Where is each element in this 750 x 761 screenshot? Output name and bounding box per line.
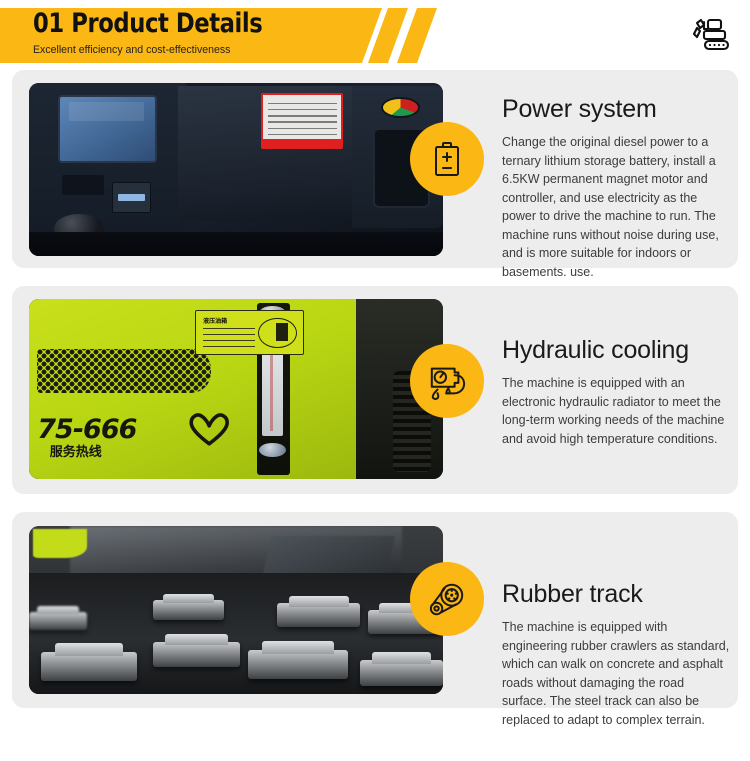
feature-card-hydraulic-cooling[interactable]: 75-666 服务热线 液压油箱 — [12, 286, 738, 494]
card-body: The machine is equipped with an electron… — [502, 374, 730, 448]
tank-plate-cn: 液压油箱 — [203, 316, 227, 325]
card-photo-rubber-track — [29, 526, 443, 694]
badge-track-belt — [410, 562, 484, 636]
hotline-label-cn: 服务热线 — [50, 441, 102, 460]
section-number: 01 — [33, 8, 64, 39]
card-title: Rubber track — [502, 580, 730, 609]
hydraulic-radiator-icon — [427, 362, 467, 400]
card-photo-power-system — [29, 83, 443, 256]
excavator-icon — [688, 16, 732, 56]
card-title: Power system — [502, 95, 730, 124]
page-title: 01Product Details — [33, 9, 310, 39]
feature-card-power-system[interactable]: Power system Change the original diesel … — [12, 70, 738, 268]
header-text-group: 01Product Details Excellent efficiency a… — [33, 9, 363, 57]
card-text-power-system: Power system Change the original diesel … — [502, 95, 730, 281]
hydraulic-tank-plate: 液压油箱 — [195, 310, 305, 355]
track-belt-icon — [427, 580, 467, 618]
page-title-label: Product Details — [71, 8, 262, 39]
page-header: 01Product Details Excellent efficiency a… — [0, 0, 750, 70]
card-body: The machine is equipped with engineering… — [502, 618, 730, 729]
badge-hydraulic-radiator — [410, 344, 484, 418]
warning-decal — [261, 93, 344, 149]
tri-color-indicator — [381, 97, 420, 118]
card-body: Change the original diesel power to a te… — [502, 133, 730, 281]
feature-card-rubber-track[interactable]: Rubber track The machine is equipped wit… — [12, 512, 738, 708]
cards-container: Power system Change the original diesel … — [0, 70, 750, 708]
card-text-rubber-track: Rubber track The machine is equipped wit… — [502, 580, 730, 729]
page-subtitle: Excellent efficiency and cost-effectiven… — [33, 43, 350, 57]
card-title: Hydraulic cooling — [502, 336, 730, 365]
badge-battery — [410, 122, 484, 196]
card-photo-hydraulic-cooling: 75-666 服务热线 液压油箱 — [29, 299, 443, 479]
card-text-hydraulic-cooling: Hydraulic cooling The machine is equippe… — [502, 336, 730, 448]
battery-icon — [430, 140, 464, 178]
